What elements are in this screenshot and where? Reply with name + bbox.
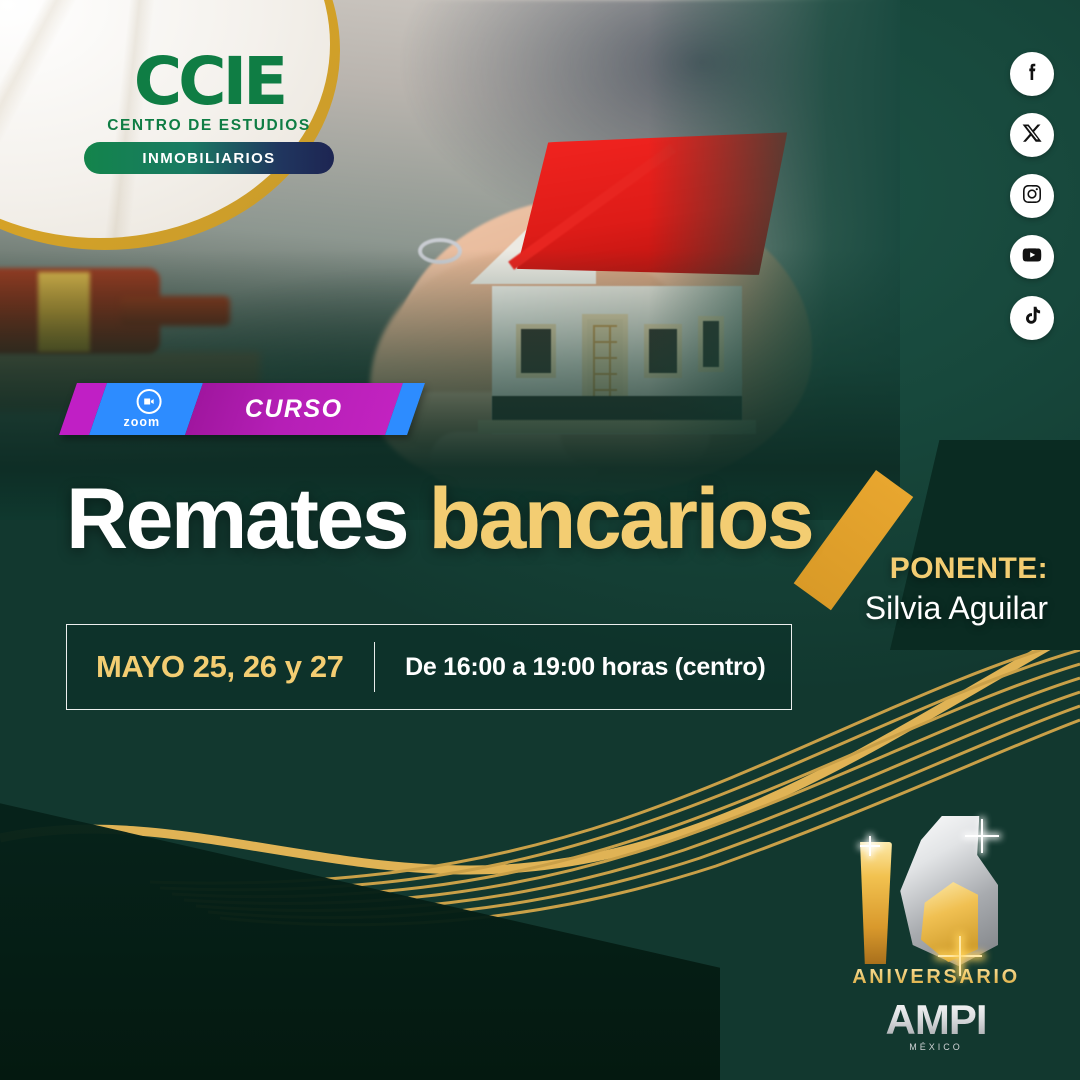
speaker-label: PONENTE: bbox=[865, 552, 1048, 586]
curso-badge[interactable]: zoom CURSO bbox=[59, 383, 425, 435]
social-icons bbox=[1010, 52, 1054, 340]
title-word-primary: Remates bbox=[66, 471, 407, 567]
schedule-date: MAYO 25, 26 y 27 bbox=[67, 649, 344, 685]
zoom-label: zoom bbox=[123, 415, 160, 429]
social-instagram-button[interactable] bbox=[1010, 174, 1054, 218]
promo-poster: CCIE CENTRO DE ESTUDIOS INMOBILIARIOS bbox=[0, 0, 1080, 1080]
ccie-pill: INMOBILIARIOS bbox=[84, 142, 334, 174]
instagram-icon bbox=[1020, 182, 1044, 211]
schedule-divider bbox=[374, 642, 376, 692]
social-facebook-button[interactable] bbox=[1010, 52, 1054, 96]
social-youtube-button[interactable] bbox=[1010, 235, 1054, 279]
social-x-button[interactable] bbox=[1010, 113, 1054, 157]
anniversary-digit-one bbox=[858, 842, 892, 964]
title-word-accent: bancarios bbox=[428, 471, 812, 567]
badge-curso-section: CURSO bbox=[185, 383, 403, 435]
ccie-subtitle: CENTRO DE ESTUDIOS bbox=[84, 117, 334, 135]
social-tiktok-button[interactable] bbox=[1010, 296, 1054, 340]
youtube-icon bbox=[1020, 243, 1044, 272]
speaker-block: PONENTE: Silvia Aguilar bbox=[865, 552, 1048, 627]
event-title: Remates bancarios bbox=[66, 476, 812, 562]
curso-label: CURSO bbox=[245, 395, 343, 424]
ampi-wordmark: AMPI bbox=[836, 996, 1036, 1044]
ccie-logo[interactable]: CCIE CENTRO DE ESTUDIOS INMOBILIARIOS bbox=[84, 52, 334, 174]
badge-zoom-section: zoom bbox=[89, 383, 203, 435]
anniversary-number-graphic bbox=[836, 810, 1036, 970]
ampi-country: MÉXICO bbox=[836, 1042, 1036, 1052]
ccie-wordmark: CCIE bbox=[84, 52, 334, 111]
schedule-time: De 16:00 a 19:00 horas (centro) bbox=[405, 653, 765, 682]
anniversary-logo: ANIVERSARIO AMPI MÉXICO bbox=[836, 810, 1036, 1052]
facebook-icon bbox=[1020, 60, 1044, 89]
schedule-box: MAYO 25, 26 y 27 De 16:00 a 19:00 horas … bbox=[66, 624, 792, 710]
x-icon bbox=[1020, 121, 1044, 150]
video-camera-icon bbox=[136, 389, 161, 414]
speaker-name: Silvia Aguilar bbox=[865, 590, 1048, 627]
tiktok-icon bbox=[1020, 304, 1044, 333]
